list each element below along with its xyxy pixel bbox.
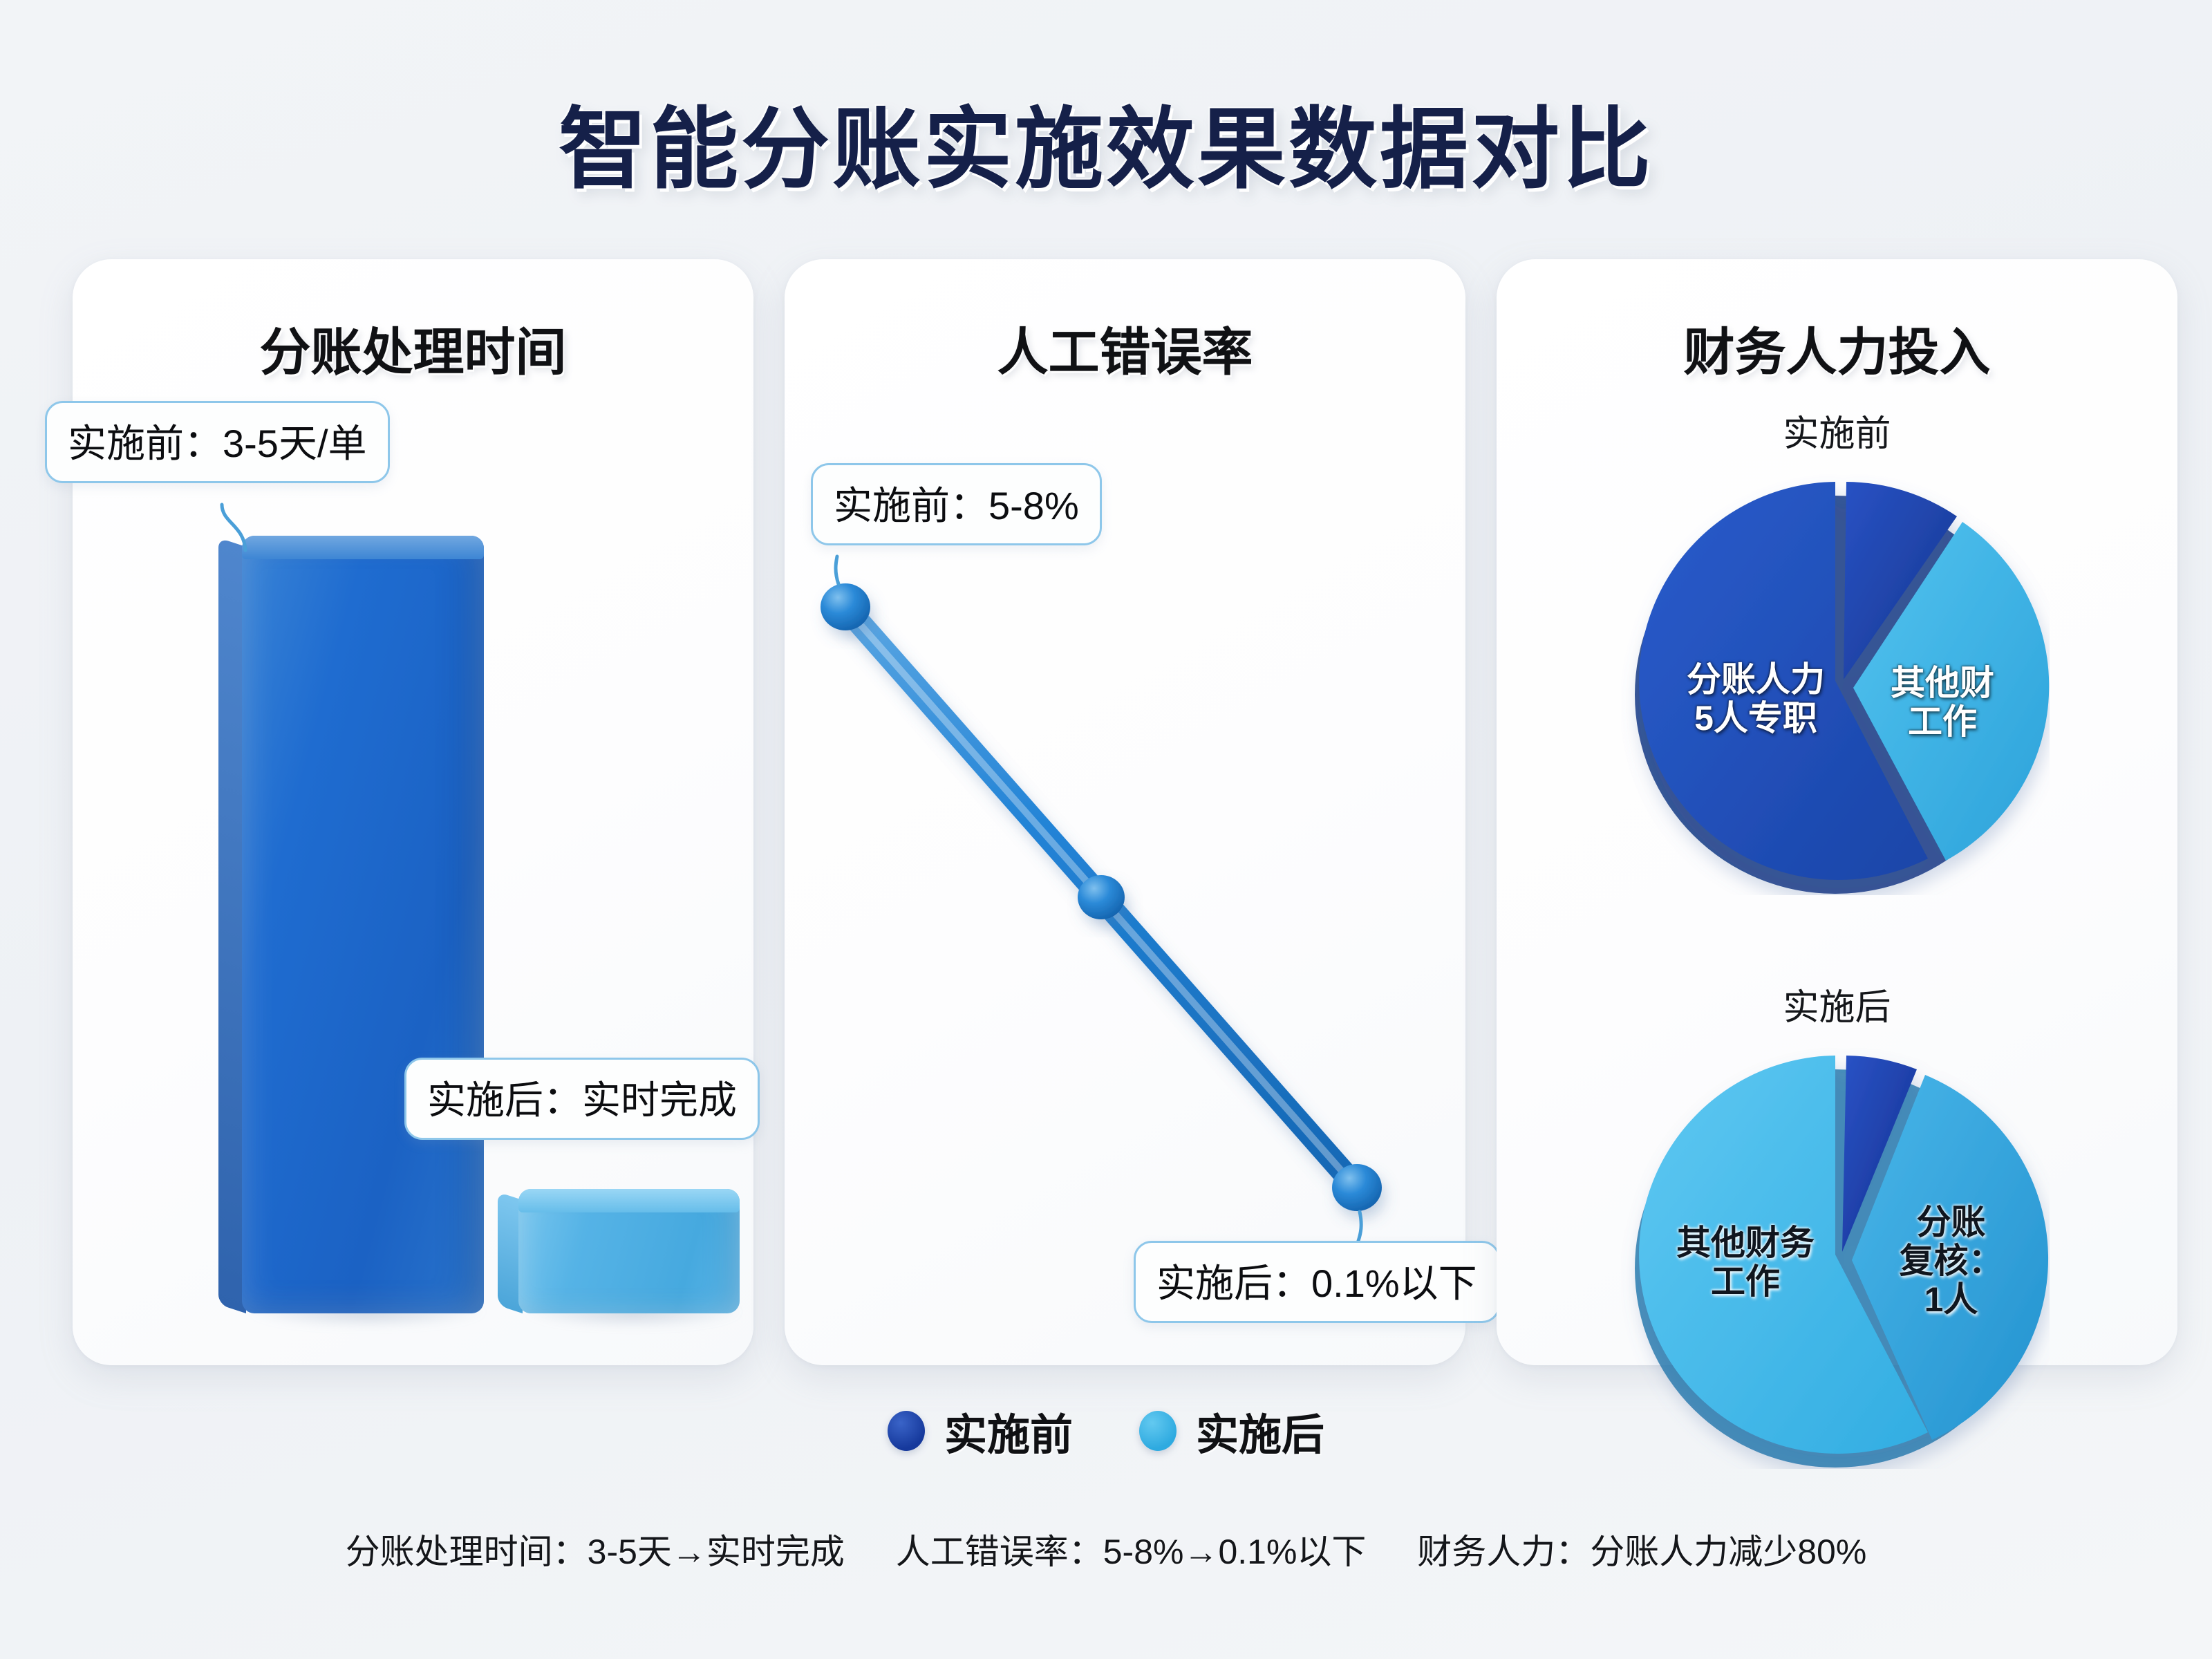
pie-before-caption: 实施前 (1497, 404, 2177, 456)
panel-finance-headcount: 财务人力投入 实施前 (1497, 259, 2177, 1365)
pie-after-caption: 实施后 (1497, 978, 2177, 1030)
panel-3-title: 财务人力投入 (1497, 311, 2177, 385)
page-title: 智能分账实施效果数据对比 (0, 77, 2212, 205)
panel-processing-time: 分账处理时间 实施前：3-5天/单 实施后：实时完成 (73, 259, 753, 1365)
bar-after-top (518, 1189, 740, 1212)
bar-before-face (242, 536, 484, 1313)
footer-summary: 分账处理时间：3-5天→实时完成 人工错误率：5-8%→0.1%以下 财务人力：… (0, 1524, 2212, 1574)
line-chart (785, 259, 1465, 1365)
callout-after-error-rate: 实施后：0.1%以下 (1134, 1241, 1500, 1323)
infographic-stage: 智能分账实施效果数据对比 分账处理时间 实施前：3-5天/单 实施后：实时完成 (0, 0, 2212, 1659)
callout-connector-before (176, 505, 287, 553)
legend-item-after: 实施后 (1139, 1400, 1324, 1462)
footer-item-processing-time: 分账处理时间：3-5天→实时完成 (346, 1533, 845, 1571)
panel-1-title: 分账处理时间 (73, 311, 753, 385)
legend-item-before: 实施前 (888, 1400, 1073, 1462)
legend-label-before: 实施前 (944, 1400, 1073, 1462)
legend: 实施前 实施后 (0, 1400, 2212, 1462)
legend-label-after: 实施后 (1196, 1400, 1324, 1462)
legend-dot-after-icon (1139, 1411, 1177, 1451)
callout-after-processing-time: 实施后：实时完成 (404, 1058, 760, 1140)
legend-dot-before-icon (888, 1411, 925, 1451)
callout-before-error-rate: 实施前：5-8% (811, 463, 1102, 545)
bar-after (518, 1189, 740, 1313)
pie-before: 分账人力 5人专职 其他财 工作 (1621, 467, 2050, 899)
panel-error-rate: 人工错误率 (785, 259, 1465, 1365)
footer-item-error-rate: 人工错误率：5-8%→0.1%以下 (896, 1533, 1367, 1571)
callout-before-processing-time: 实施前：3-5天/单 (45, 401, 390, 483)
footer-item-headcount: 财务人力：分账人力减少80% (1417, 1533, 1866, 1571)
bar-before (242, 536, 484, 1313)
